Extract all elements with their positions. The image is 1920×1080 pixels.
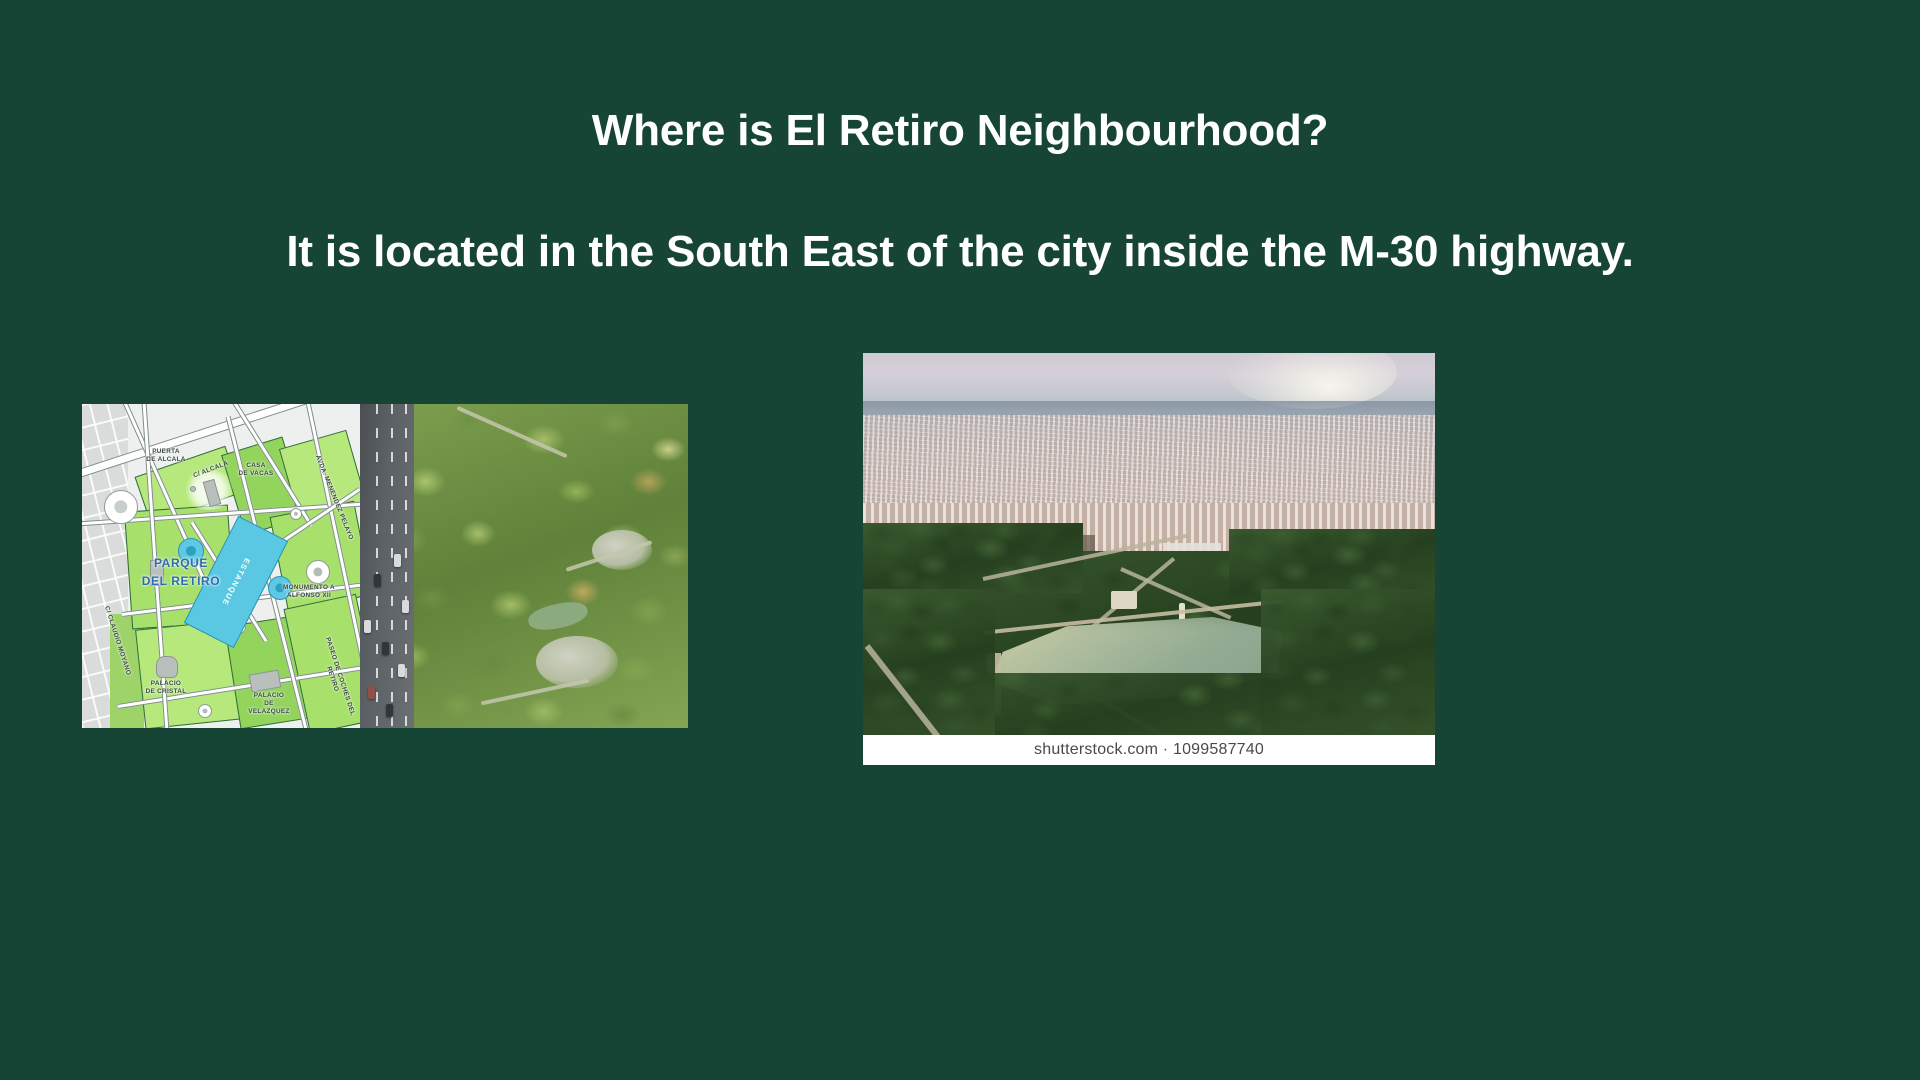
- map-marker: [190, 486, 196, 492]
- photo-car: [394, 554, 401, 567]
- map-roundabout: [306, 560, 330, 584]
- shutterstock-watermark-bar: shutterstock.com · 1099587740: [863, 735, 1435, 765]
- photo-avenue-asphalt: [360, 404, 414, 728]
- page-subtitle: It is located in the South East of the c…: [0, 228, 1920, 276]
- retiro-street-map: ESTANQUE PUERTA DE ALCALA C/ ALCALA CASA…: [82, 404, 360, 728]
- photo-car: [374, 574, 381, 587]
- photo-park-canopy: [1261, 589, 1435, 735]
- map-roundabout-hub: [202, 708, 207, 713]
- map-label-puerta-de-alcala: PUERTA DE ALCALA: [138, 448, 194, 464]
- map-label-palacio-de-cristal: PALACIO DE CRISTAL: [142, 680, 190, 696]
- page-title: Where is El Retiro Neighbourhood?: [0, 107, 1920, 155]
- right-aerial-figure: shutterstock.com · 1099587740: [863, 353, 1435, 765]
- photo-lane-marking: [376, 404, 378, 728]
- map-label-parque-del-retiro-line2: DEL RETIRO: [128, 574, 234, 589]
- photo-car: [398, 664, 405, 677]
- map-roundabout-hub: [294, 512, 298, 516]
- map-roundabout-small: [198, 704, 212, 718]
- shutterstock-watermark-text: shutterstock.com · 1099587740: [1034, 741, 1264, 759]
- photo-lane-marking: [405, 404, 407, 728]
- map-roundabout-puerta-alcala: [104, 490, 138, 524]
- photo-car: [402, 600, 409, 613]
- photo-lane-marking: [391, 404, 393, 728]
- map-roundabout-hub: [313, 567, 322, 576]
- photo-park-canopy: [863, 523, 1083, 593]
- map-building-palacio-cristal: [156, 656, 178, 678]
- slide-canvas: Where is El Retiro Neighbourhood? It is …: [0, 0, 1920, 1080]
- map-label-palacio-de-velazquez: PALACIO DE VELAZQUEZ: [244, 692, 294, 716]
- photo-car: [368, 686, 375, 699]
- map-roundabout-hub: [186, 546, 196, 556]
- photo-car: [364, 620, 371, 633]
- map-roundabout-hub: [114, 500, 127, 513]
- left-composite-figure: ESTANQUE PUERTA DE ALCALA C/ ALCALA CASA…: [82, 404, 688, 728]
- photo-monument-plaza: [1111, 591, 1137, 609]
- map-label-parque-del-retiro-line1: PARQUE: [128, 556, 234, 571]
- map-label-casa-de-vacas: CASA DE VACAS: [230, 462, 282, 478]
- map-roundabout-small: [290, 508, 302, 520]
- retiro-trees-photo: [360, 404, 688, 728]
- photo-car: [386, 704, 393, 717]
- map-label-monumento-alfonso-xii: MONUMENTO A ALFONSO XII: [278, 584, 340, 600]
- photo-car: [382, 642, 389, 655]
